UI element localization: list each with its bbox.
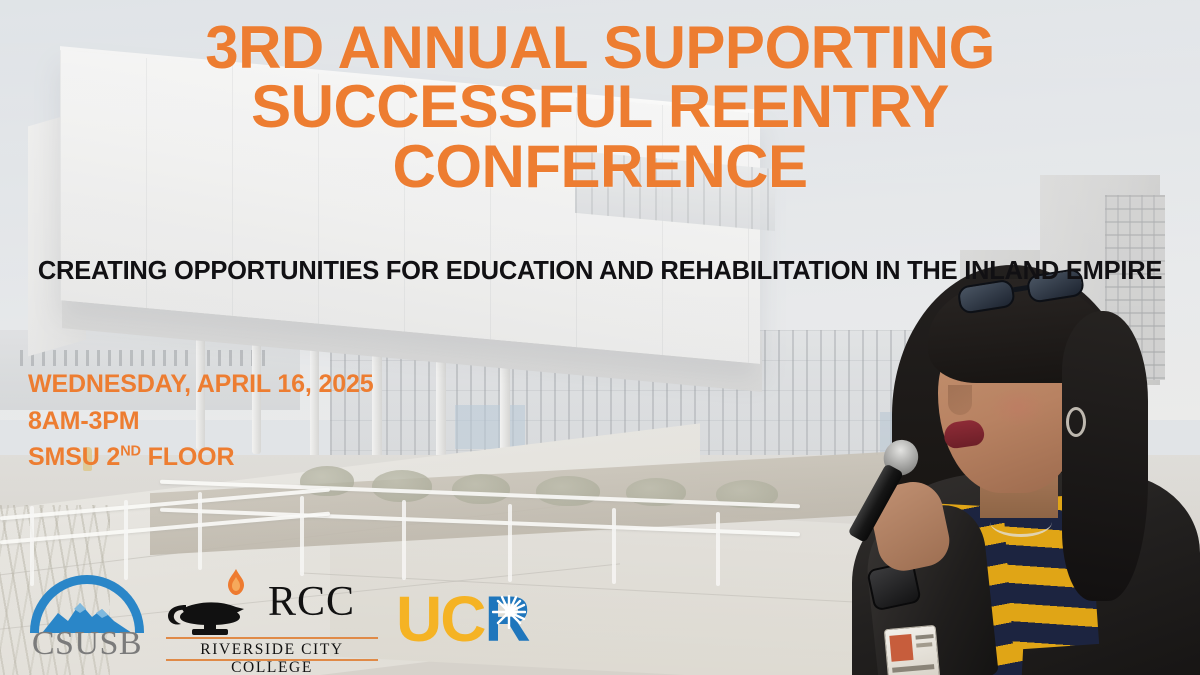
- oil-lamp-icon: [166, 587, 258, 637]
- location-suffix: FLOOR: [141, 443, 235, 471]
- event-flyer: 3RD ANNUAL SUPPORTING SUCCESSFUL REENTRY…: [0, 0, 1200, 675]
- badge-line: [916, 642, 932, 647]
- rcc-tagline: RIVERSIDE CITY COLLEGE: [166, 641, 378, 675]
- ucr-logo[interactable]: UCR: [396, 587, 538, 661]
- hoop-earring: [1066, 407, 1086, 437]
- id-badge: [884, 625, 941, 675]
- event-details: WEDNESDAY, APRIL 16, 2025 8AM-3PM SMSU 2…: [28, 366, 373, 476]
- distant-building-windows: [20, 350, 270, 366]
- railing-post: [198, 492, 202, 570]
- starburst-icon: [492, 595, 526, 629]
- necklace: [990, 507, 1052, 537]
- page-title: 3RD ANNUAL SUPPORTING SUCCESSFUL REENTRY…: [0, 18, 1200, 196]
- event-location: SMSU 2ND FLOOR: [28, 439, 373, 476]
- railing-post: [124, 500, 128, 580]
- shrub: [372, 470, 432, 502]
- title-line-1: 3RD ANNUAL SUPPORTING: [0, 18, 1200, 77]
- badge-photo: [889, 634, 913, 662]
- hair-side: [1062, 311, 1148, 601]
- subtitle: CREATING OPPORTUNITIES FOR EDUCATION AND…: [18, 254, 1182, 289]
- shrub: [452, 474, 510, 504]
- nose: [948, 385, 972, 415]
- speaker-photo-subject: [840, 255, 1200, 675]
- event-time: 8AM-3PM: [28, 403, 373, 440]
- support-column: [436, 352, 446, 464]
- csusb-logo[interactable]: CSUSB: [26, 571, 148, 661]
- cheek-blush: [990, 387, 1046, 427]
- facade-blue-panel: [455, 405, 525, 449]
- railing-post: [716, 512, 720, 586]
- badge-line: [892, 664, 934, 673]
- railing-post: [402, 500, 406, 580]
- rcc-logo[interactable]: RCC RIVERSIDE CITY COLLEGE: [162, 579, 382, 661]
- rcc-rule-top: [166, 637, 378, 639]
- rcc-wordmark: RCC: [268, 581, 355, 623]
- rcc-rule-bottom: [166, 659, 378, 661]
- location-ordinal: ND: [120, 444, 141, 460]
- shrub: [536, 476, 600, 506]
- badge-line: [915, 634, 933, 640]
- csusb-wordmark: CSUSB: [26, 625, 148, 663]
- flame-icon: [228, 569, 244, 595]
- ucr-uc: UC: [396, 583, 484, 655]
- partner-logos: CSUSB RCC RIVERSIDE CITY COLL: [26, 569, 538, 661]
- support-column: [372, 348, 382, 462]
- location-prefix: SMSU 2: [28, 443, 120, 471]
- event-date: WEDNESDAY, APRIL 16, 2025: [28, 366, 373, 403]
- title-line-3: CONFERENCE: [0, 137, 1200, 196]
- railing-post: [612, 508, 616, 584]
- title-line-2: SUCCESSFUL REENTRY: [0, 77, 1200, 136]
- railing-post: [300, 496, 304, 576]
